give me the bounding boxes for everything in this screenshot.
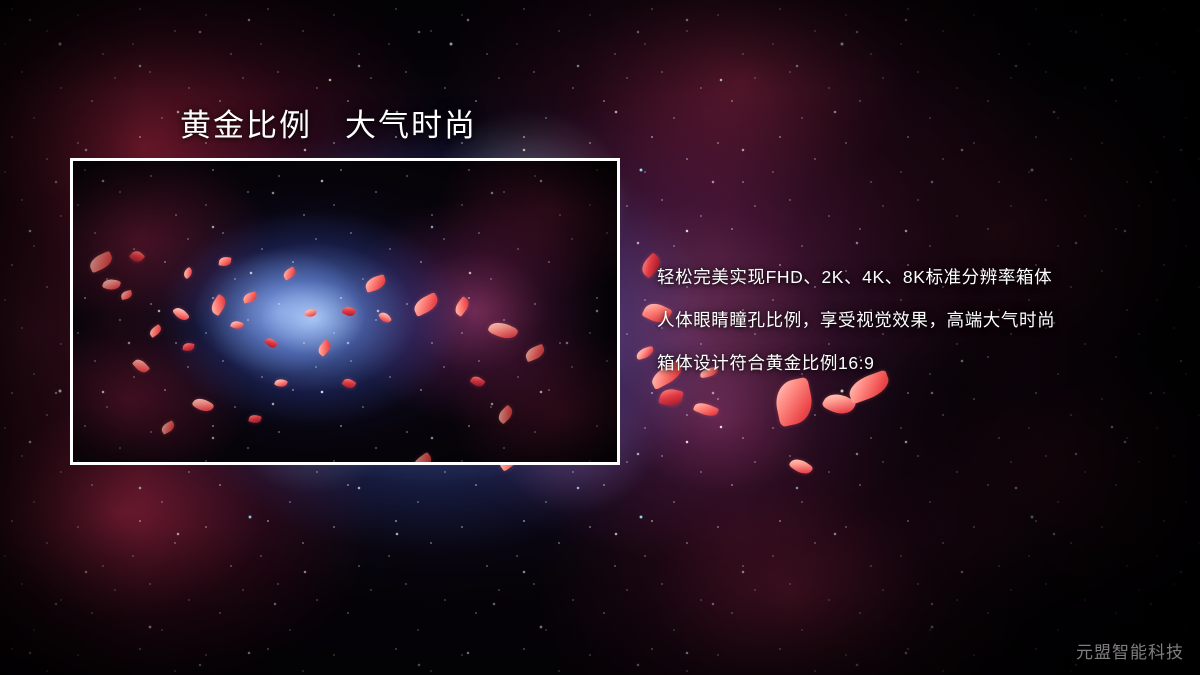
slide-canvas: 黄金比例 大气时尚 轻松完美实现FHD、2K、4K、8K标准分辨率箱体 人体眼睛… [0,0,1200,675]
petal [635,346,655,361]
petal [821,388,857,420]
page-title: 黄金比例 大气时尚 [180,100,477,145]
petal [788,455,813,478]
brand-watermark: 元盟智能科技 [1076,638,1184,663]
petal [693,400,719,419]
feature-description: 轻松完美实现FHD、2K、4K、8K标准分辨率箱体 人体眼睛瞳孔比例，享受视觉效… [657,256,1077,385]
description-line: 人体眼睛瞳孔比例，享受视觉效果，高端大气时尚 [657,299,1077,342]
preview-vignette [73,161,617,462]
preview-frame[interactable] [70,158,620,465]
description-line: 箱体设计符合黄金比例16:9 [657,342,1077,385]
petal [658,387,683,409]
description-line: 轻松完美实现FHD、2K、4K、8K标准分辨率箱体 [657,256,1077,299]
